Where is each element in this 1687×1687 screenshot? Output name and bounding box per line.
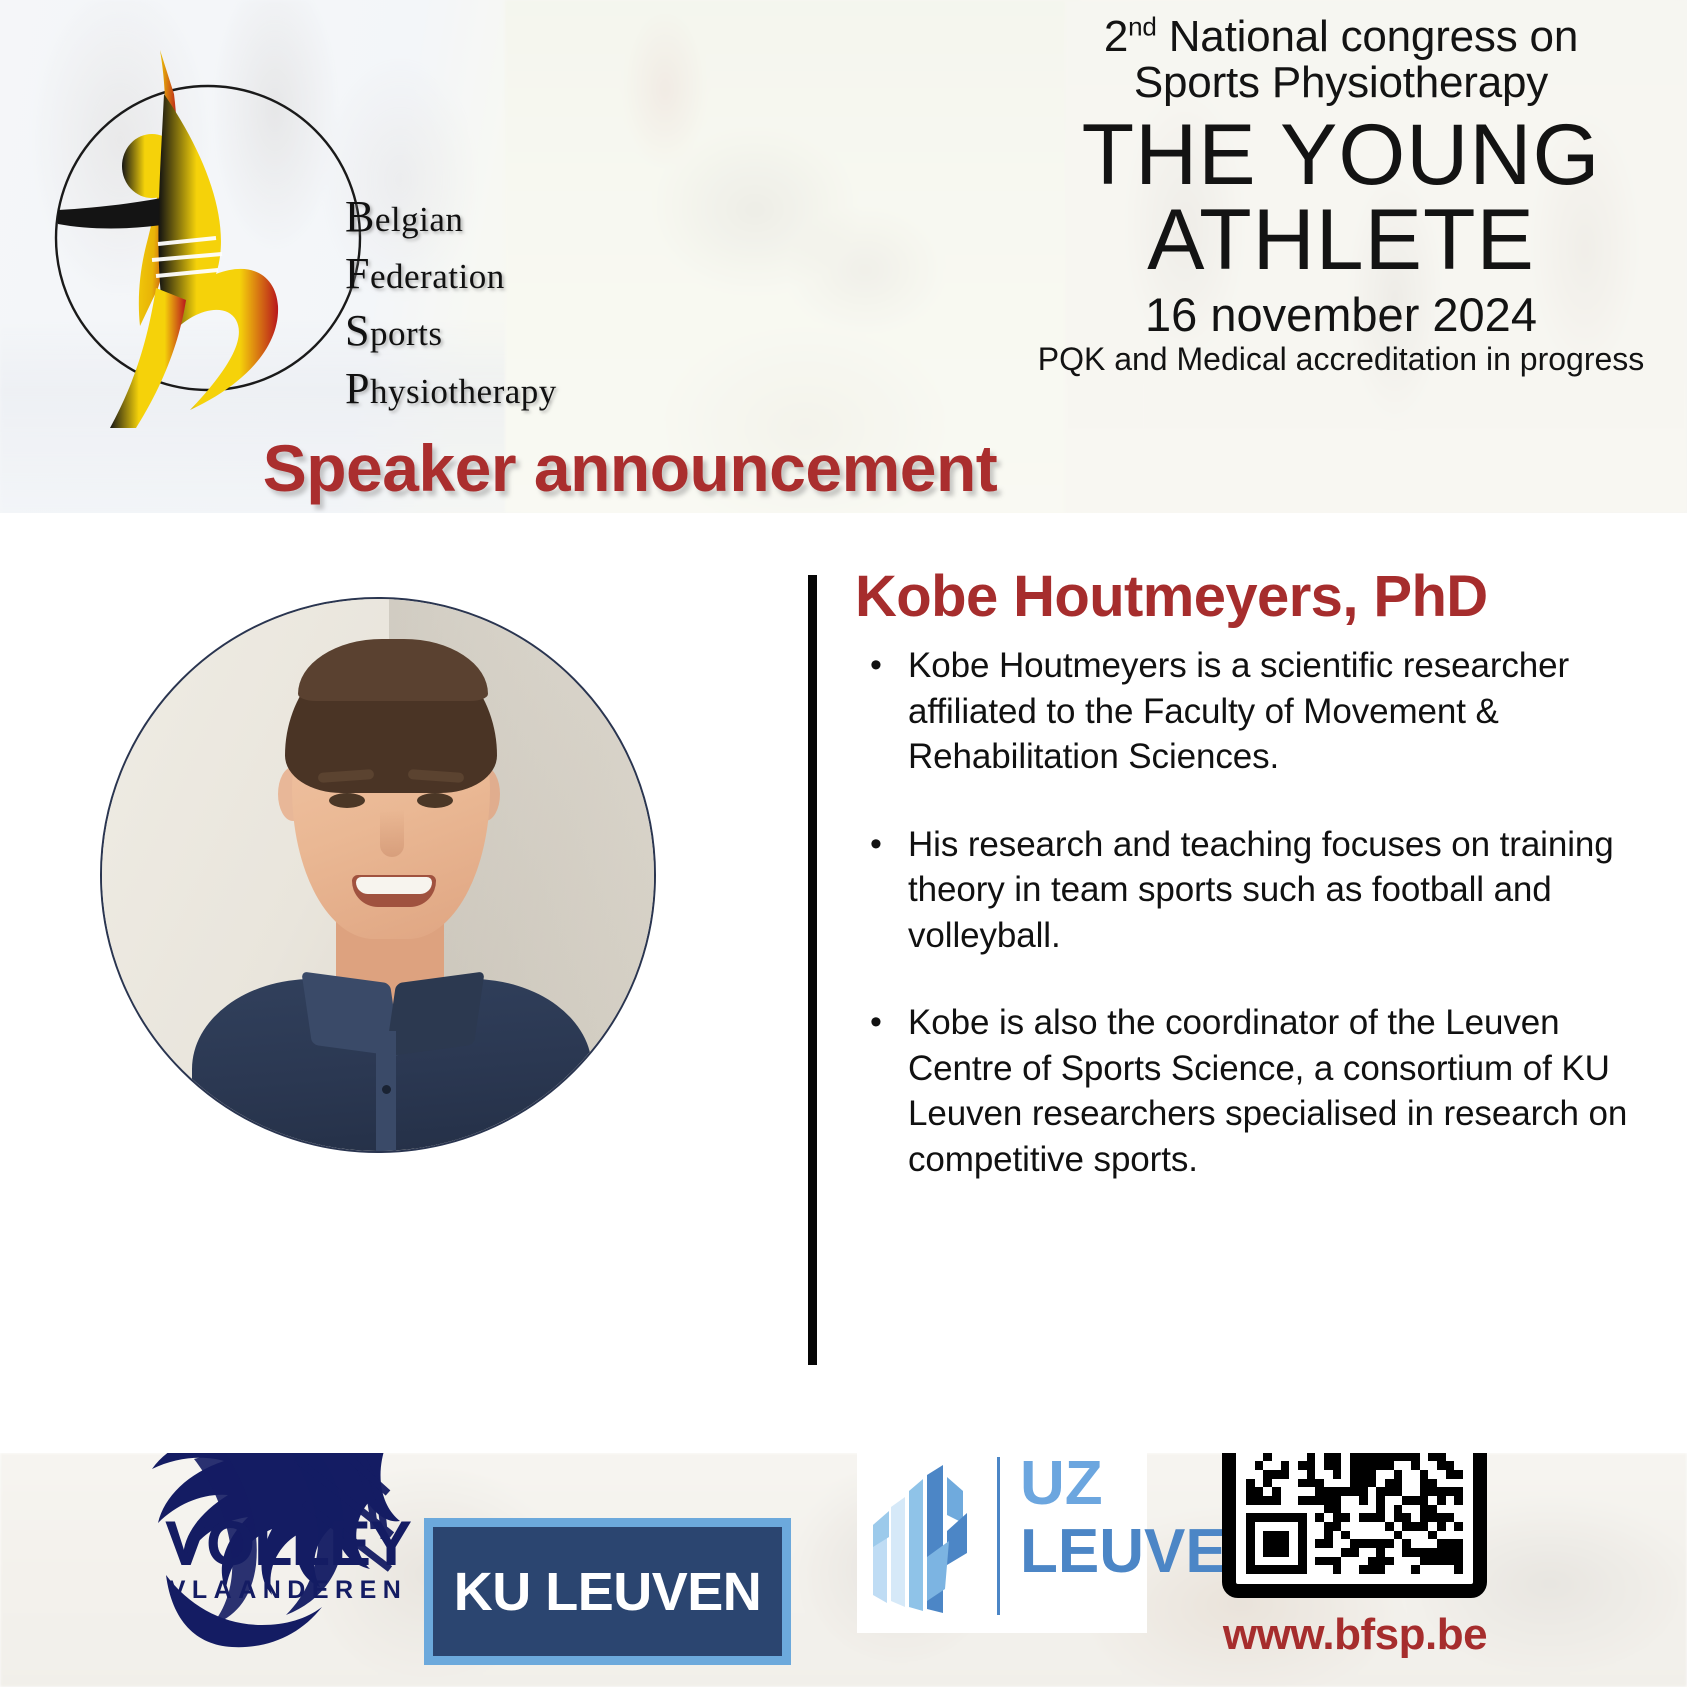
speaker-announcement-banner: Speaker announcement: [0, 430, 1260, 506]
bullet-text: Kobe is also the coordinator of the Leuv…: [908, 1000, 1662, 1182]
logo-line-belgian: Belgian: [345, 188, 557, 245]
congress-accreditation: PQK and Medical accreditation in progres…: [1011, 342, 1671, 378]
logo-line-federation: Federation: [345, 245, 557, 302]
bfsp-logo-text: Belgian Federation Sports Physiotherapy: [345, 188, 557, 417]
bullet-marker-icon: •: [862, 822, 908, 959]
sponsor-footer: VOLLEY VLAANDEREN KU LEUVEN UZ LEUVEN JO…: [0, 1453, 1687, 1687]
congress-date: 16 november 2024: [1011, 290, 1671, 340]
main-content: Kobe Houtmeyers, PhD • Kobe Houtmeyers i…: [0, 513, 1687, 1453]
bullet-marker-icon: •: [862, 1000, 908, 1182]
sponsor-logo-ku-leuven: KU LEUVEN: [424, 1518, 791, 1665]
speaker-photo: [100, 597, 656, 1153]
bfsp-logo-mark: [40, 38, 370, 428]
photo-shirt-button: [382, 1085, 391, 1094]
speaker-bio-list: • Kobe Houtmeyers is a scientific resear…: [862, 643, 1662, 1224]
congress-title-line1: THE YOUNG: [1082, 107, 1601, 203]
kuleuven-wordmark: KU LEUVEN: [454, 1561, 762, 1623]
logo-line-physiotherapy: Physiotherapy: [345, 360, 557, 417]
photo-mouth: [352, 875, 436, 907]
bullet-text: His research and teaching focuses on tra…: [908, 822, 1662, 959]
photo-nose: [380, 809, 404, 857]
uz-divider: [997, 1457, 1000, 1615]
sponsor-logo-uz-leuven: UZ LEUVEN: [857, 1453, 1147, 1633]
congress-ordinal: 2: [1104, 12, 1128, 61]
congress-subtitle-line2: Sports Physiotherapy: [1134, 58, 1548, 107]
congress-title-block: 2nd National congress on Sports Physioth…: [1011, 14, 1671, 377]
congress-title: THE YOUNG ATHLETE: [1011, 110, 1671, 286]
congress-subtitle: 2nd National congress on Sports Physioth…: [1011, 14, 1671, 106]
sponsor-logo-volley-vlaanderen: VOLLEY VLAANDEREN: [72, 1453, 402, 1663]
photo-collar-right: [385, 971, 484, 1056]
list-item: • His research and teaching focuses on t…: [862, 822, 1662, 959]
congress-subtitle-line1: National congress on: [1157, 12, 1578, 61]
vertical-divider: [808, 575, 817, 1365]
photo-teeth: [356, 877, 432, 894]
volley-subtext: VLAANDEREN: [138, 1576, 438, 1605]
uz-building-icon: [871, 1461, 979, 1613]
list-item: • Kobe is also the coordinator of the Le…: [862, 1000, 1662, 1182]
list-item: • Kobe Houtmeyers is a scientific resear…: [862, 643, 1662, 780]
volley-wordmark: VOLLEY: [138, 1513, 438, 1576]
photo-eye-right: [417, 793, 453, 808]
bullet-text: Kobe Houtmeyers is a scientific research…: [908, 643, 1662, 780]
photo-eye-left: [329, 793, 365, 808]
bfsp-logo: Belgian Federation Sports Physiotherapy: [40, 38, 600, 438]
qr-code-grid: [1246, 1453, 1463, 1574]
logo-line-sports: Sports: [345, 302, 557, 359]
website-url[interactable]: www.bfsp.be: [1190, 1610, 1520, 1660]
uz-wordmark-line1: UZ: [1020, 1453, 1103, 1515]
bullet-marker-icon: •: [862, 643, 908, 780]
header-banner: Belgian Federation Sports Physiotherapy …: [0, 0, 1687, 513]
congress-title-line2: ATHLETE: [1011, 195, 1671, 286]
qr-code[interactable]: [1222, 1453, 1487, 1598]
congress-ordinal-suffix: nd: [1128, 11, 1157, 41]
speaker-name: Kobe Houtmeyers, PhD: [855, 563, 1645, 630]
